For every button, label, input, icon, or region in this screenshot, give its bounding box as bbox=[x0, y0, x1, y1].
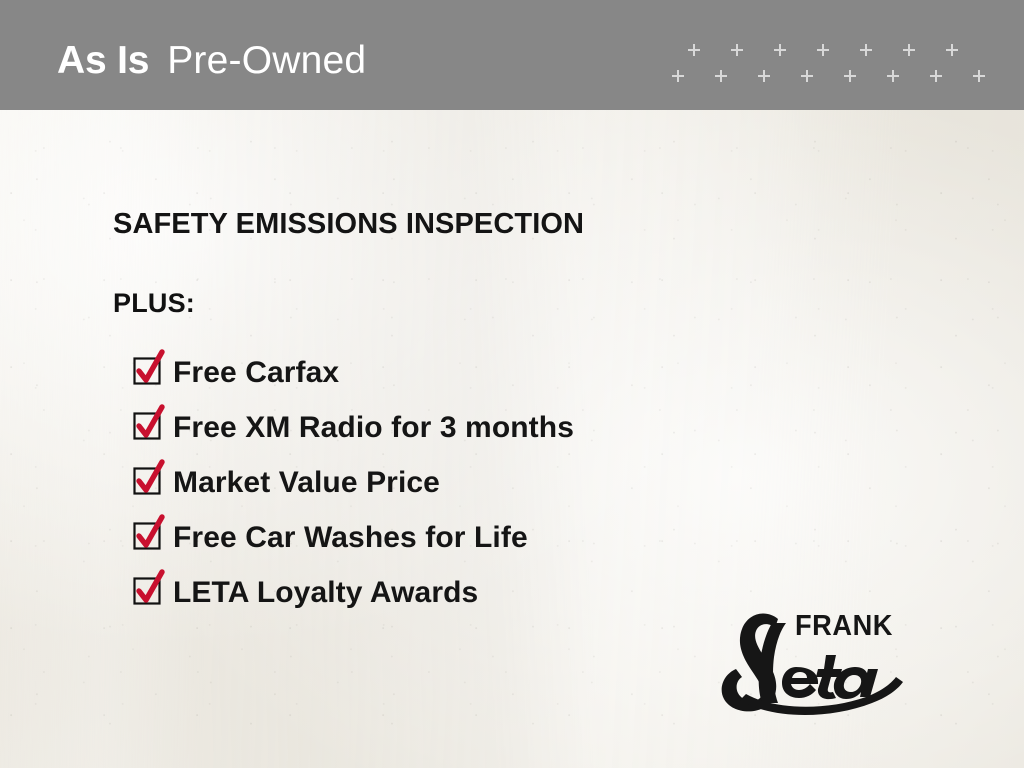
plus-mark-icon bbox=[903, 44, 946, 56]
list-item-label: Free Carfax bbox=[173, 356, 339, 390]
list-item-label: LETA Loyalty Awards bbox=[173, 576, 478, 610]
list-item: Free XM Radio for 3 months bbox=[134, 400, 873, 455]
plus-mark-icon bbox=[887, 70, 930, 82]
list-item: Free Car Washes for Life bbox=[134, 510, 873, 565]
benefits-checklist: Free Carfax Free XM Radio for 3 months bbox=[113, 319, 873, 620]
checked-checkbox-icon bbox=[134, 358, 164, 388]
header-plus-decoration bbox=[672, 40, 1002, 92]
checked-checkbox-icon bbox=[134, 578, 164, 608]
plus-row-top bbox=[672, 44, 1018, 58]
plus-mark-icon bbox=[688, 44, 731, 56]
checked-checkbox-icon bbox=[134, 523, 164, 553]
plus-mark-icon bbox=[930, 70, 973, 82]
list-item-label: Free Car Washes for Life bbox=[173, 521, 528, 555]
slide-header-bar: As IsPre-Owned bbox=[0, 0, 1024, 110]
plus-mark-icon bbox=[774, 44, 817, 56]
logo-frank-text: FRANK bbox=[795, 610, 893, 642]
checked-checkbox-icon bbox=[134, 413, 164, 443]
plus-mark-icon bbox=[946, 44, 989, 56]
plus-label-text: PLUS: bbox=[113, 242, 873, 319]
plus-mark-icon bbox=[860, 44, 903, 56]
list-item-label: Free XM Radio for 3 months bbox=[173, 411, 574, 445]
plus-mark-icon bbox=[758, 70, 801, 82]
plus-mark-icon bbox=[973, 70, 1016, 82]
list-item: Free Carfax bbox=[134, 345, 873, 400]
checked-checkbox-icon bbox=[134, 468, 164, 498]
slide-title-light: Pre-Owned bbox=[167, 39, 366, 82]
plus-mark-icon bbox=[715, 70, 758, 82]
frank-leta-logo: FRANK bbox=[700, 603, 915, 718]
plus-mark-icon bbox=[801, 70, 844, 82]
list-item-label: Market Value Price bbox=[173, 466, 440, 500]
slide-title: As IsPre-Owned bbox=[57, 37, 366, 85]
plus-row-bottom bbox=[672, 70, 1002, 84]
slide: As IsPre-Owned bbox=[0, 0, 1024, 768]
slide-title-strong: As Is bbox=[57, 39, 149, 82]
plus-mark-icon bbox=[672, 70, 715, 82]
headline-text: SAFETY EMISSIONS INSPECTION bbox=[113, 206, 873, 242]
slide-content: SAFETY EMISSIONS INSPECTION PLUS: Free C… bbox=[113, 206, 873, 620]
list-item: Market Value Price bbox=[134, 455, 873, 510]
plus-mark-icon bbox=[731, 44, 774, 56]
plus-mark-icon bbox=[817, 44, 860, 56]
plus-mark-icon bbox=[844, 70, 887, 82]
